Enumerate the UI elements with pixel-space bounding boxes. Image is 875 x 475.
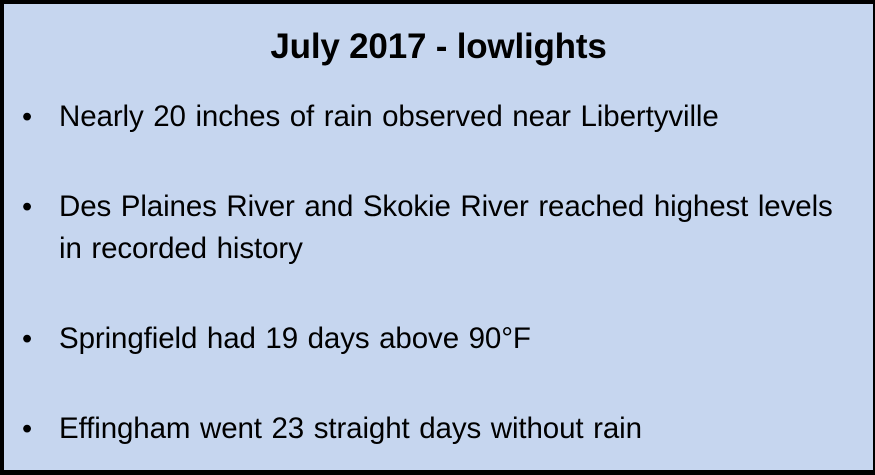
list-item: • Nearly 20 inches of rain observed near… [18,96,833,138]
slide-panel: July 2017 - lowlights • Nearly 20 inches… [0,0,875,475]
bullet-point-icon: • [18,318,59,360]
page-title: July 2017 - lowlights [4,26,873,68]
list-item: • Effingham went 23 straight days withou… [18,408,833,450]
list-item: • Springfield had 19 days above 90°F [18,318,833,360]
list-item-label: Effingham went 23 straight days without … [59,408,833,450]
list-item-label: Springfield had 19 days above 90°F [59,318,833,360]
list-item-label: Des Plaines River and Skokie River reach… [59,186,833,270]
bullet-point-icon: • [18,186,59,228]
bullet-point-icon: • [18,408,59,450]
bullet-point-icon: • [18,96,59,138]
list-item: • Des Plaines River and Skokie River rea… [18,186,833,270]
list-item-label: Nearly 20 inches of rain observed near L… [59,96,833,138]
